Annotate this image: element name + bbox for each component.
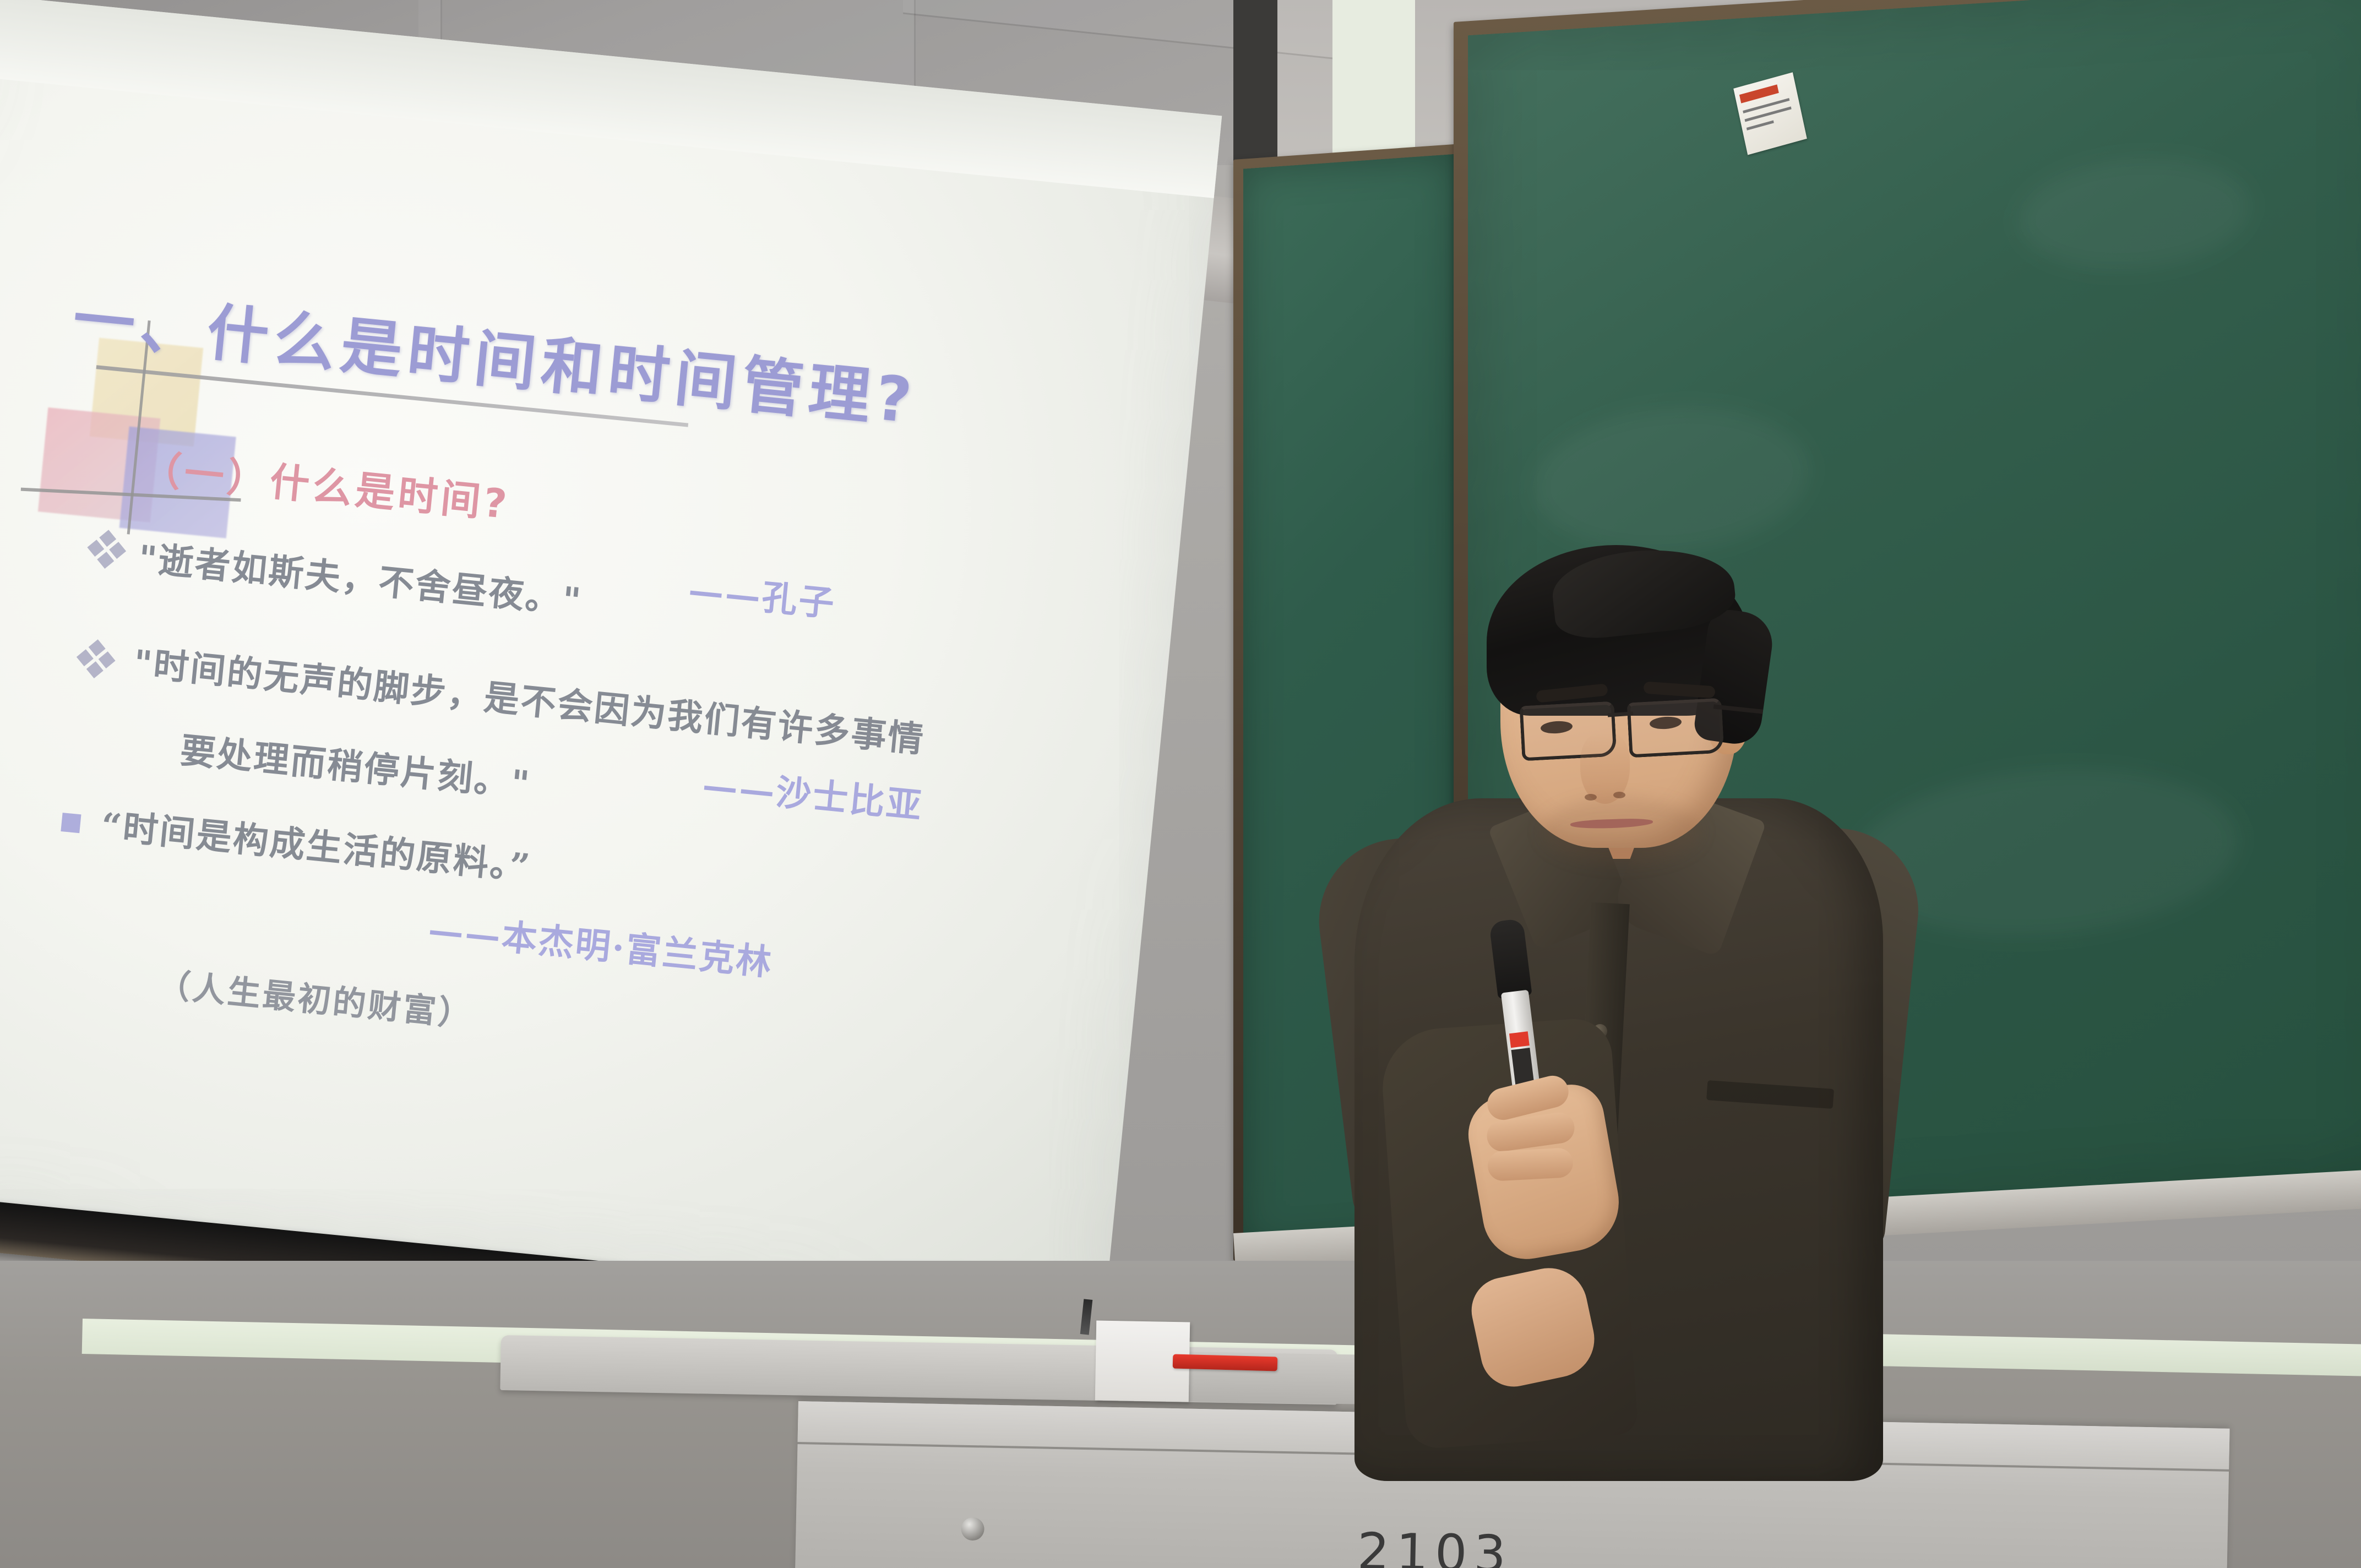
- sticker-line: [1747, 121, 1774, 130]
- red-marker: [1173, 1354, 1278, 1371]
- podium-screw: [961, 1517, 984, 1541]
- projection-surface: 一、什么是时间和时间管理? （一）什么是时间? "逝者如斯夫，不舍昼夜。" ——…: [0, 0, 1222, 1316]
- bullet-text: “时间是构成生活的原料。”: [99, 797, 534, 890]
- glasses: [1515, 700, 1747, 755]
- chin-shadow: [1542, 798, 1701, 864]
- microphone-indicator: [1509, 1031, 1530, 1048]
- bullet-marker-diamond: [88, 531, 126, 568]
- bullet-text: "逝者如斯夫，不舍昼夜。": [136, 530, 585, 624]
- bullet-attribution: ——本杰明·富兰克林: [426, 901, 775, 986]
- slide-footnote: （人生最初的财富）: [155, 958, 476, 1037]
- bullet-marker-square: [61, 813, 81, 833]
- chalk-smudge: [2019, 151, 2250, 276]
- nostril: [1613, 792, 1625, 798]
- finger: [1487, 1147, 1574, 1182]
- presentation-slide: 一、什么是时间和时间管理? （一）什么是时间? "逝者如斯夫，不舍昼夜。" ——…: [0, 135, 1165, 1290]
- classroom-scene: 一、什么是时间和时间管理? （一）什么是时间? "逝者如斯夫，不舍昼夜。" ——…: [0, 0, 2361, 1568]
- glasses-lens-right: [1627, 698, 1724, 758]
- bullet-attribution: ——孔子: [687, 562, 839, 627]
- sticker-red-band: [1739, 84, 1779, 103]
- projection-screen: 一、什么是时间和时间管理? （一）什么是时间? "逝者如斯夫，不舍昼夜。" ——…: [0, 0, 1216, 1370]
- bullet-text-continued: 要处理而稍停片刻。": [178, 722, 534, 807]
- nostril: [1585, 794, 1597, 801]
- bullet-marker-diamond: [77, 640, 115, 678]
- room-number: 2103: [1357, 1522, 1513, 1568]
- bullet-attribution: ——沙士比亚: [700, 757, 926, 829]
- chalk-smudge: [1534, 399, 1809, 559]
- presenter: [1321, 540, 1927, 1476]
